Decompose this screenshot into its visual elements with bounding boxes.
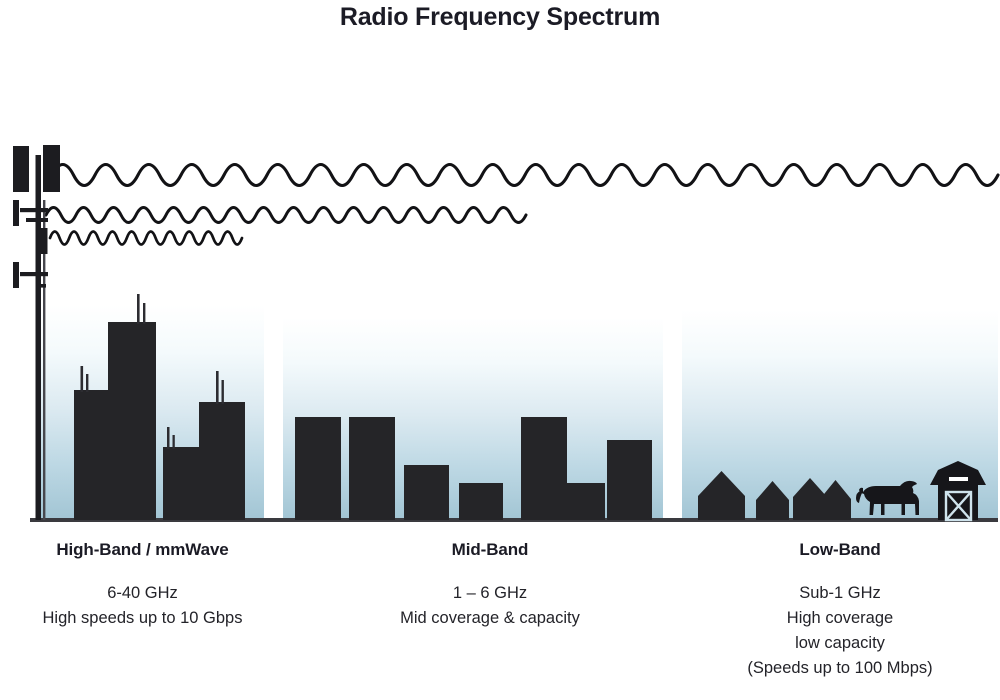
barn	[930, 461, 986, 520]
tower-small-panel-mid	[41, 228, 48, 254]
band-title-high-band: High-Band / mmWave	[0, 540, 285, 560]
band-desc-high-band-0: High speeds up to 10 Gbps	[0, 606, 285, 631]
band-desc-low-band-0: High coverage	[680, 606, 1000, 631]
low-frequency-wave	[52, 165, 998, 186]
barn-loft-window	[949, 477, 968, 481]
skyscraper-1-spire-b	[86, 374, 88, 392]
spectrum-scene	[0, 0, 1000, 540]
band-title-low-band: Low-Band	[680, 540, 1000, 560]
tower-small-panel-upper	[13, 200, 19, 226]
mid-building-5	[521, 417, 567, 520]
mid-building-5b	[567, 483, 605, 520]
tower-crossbar-lower	[20, 272, 48, 276]
mid-building-3	[404, 465, 449, 520]
band-label-mid-band: Mid-Band 1 – 6 GHz Mid coverage & capaci…	[330, 540, 650, 631]
high-frequency-wave	[50, 232, 242, 245]
skyscraper-3	[163, 447, 205, 520]
mid-frequency-wave	[46, 208, 526, 223]
tower-antenna-panel-left	[13, 146, 29, 192]
band-frequency-low-band: Sub-1 GHz	[680, 581, 1000, 606]
band-desc-mid-band-0: Mid coverage & capacity	[330, 606, 650, 631]
skyscraper-2-spire-b	[143, 303, 145, 324]
mid-building-4	[459, 483, 503, 520]
tower-crossbar-base	[36, 284, 46, 288]
band-labels: High-Band / mmWave 6-40 GHz High speeds …	[0, 540, 1000, 700]
scene-svg	[0, 0, 1000, 540]
skyscraper-2	[108, 322, 156, 520]
mid-building-6	[607, 440, 652, 520]
band-title-mid-band: Mid-Band	[330, 540, 650, 560]
mid-building-2	[349, 417, 395, 520]
band-frequency-mid-band: 1 – 6 GHz	[330, 581, 650, 606]
skyscraper-1-spire-a	[81, 366, 84, 392]
skyscraper-4-spire-a	[216, 371, 219, 404]
skyscraper-3-spire-b	[173, 435, 175, 449]
tower-crossbar-upper-2	[26, 218, 48, 222]
skyscraper-3-spire-a	[167, 427, 170, 449]
skyscraper-4-spire-b	[222, 380, 224, 404]
tower-crossbar-upper	[20, 208, 48, 212]
tower-antenna-panel-right	[43, 145, 60, 192]
band-label-low-band: Low-Band Sub-1 GHz High coverage low cap…	[680, 540, 1000, 681]
band-label-high-band: High-Band / mmWave 6-40 GHz High speeds …	[0, 540, 285, 631]
band-frequency-high-band: 6-40 GHz	[0, 581, 285, 606]
skyscraper-4	[199, 402, 245, 520]
band-desc-low-band-1: low capacity	[680, 631, 1000, 656]
tower-small-panel-lower	[13, 262, 19, 288]
band-desc-low-band-2: (Speeds up to 100 Mbps)	[680, 656, 1000, 681]
skyscraper-2-spire-a	[137, 294, 140, 324]
infographic-root: Radio Frequency Spectrum	[0, 0, 1000, 700]
mid-building-1	[295, 417, 341, 520]
